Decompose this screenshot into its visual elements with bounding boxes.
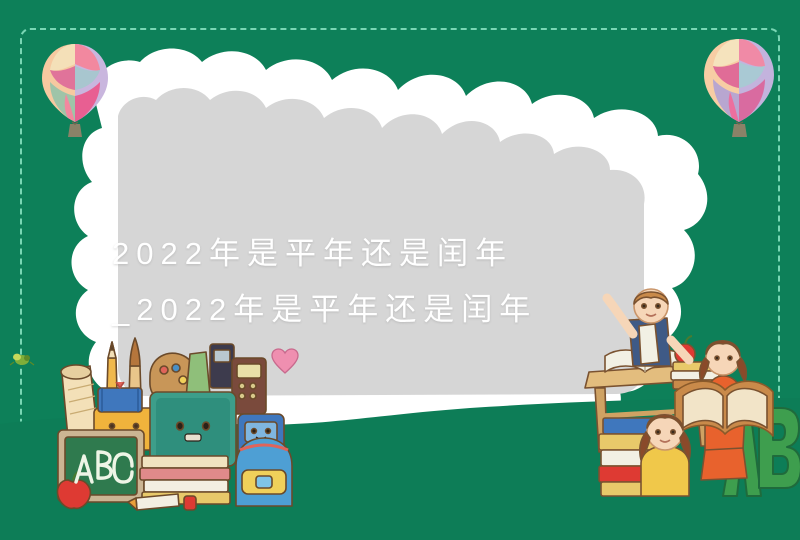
bug-icon <box>8 348 36 370</box>
girl-with-books-figure <box>640 414 690 496</box>
green-book-icon <box>150 392 236 466</box>
calculator-icon <box>210 344 234 388</box>
school-supplies-illustration <box>50 330 340 515</box>
students-illustration <box>555 300 800 500</box>
small-red-object-icon <box>184 496 196 510</box>
hot-air-balloon-right-icon <box>700 36 778 146</box>
balloon-envelope <box>42 44 108 122</box>
calculator-icon-2 <box>232 358 266 414</box>
balloon-basket <box>732 122 747 137</box>
backpack-icon <box>236 438 292 506</box>
poster-canvas: 2022年是平年还是闰年 _2022年是平年还是闰年 <box>0 0 800 540</box>
hot-air-balloon-left-icon <box>38 42 112 146</box>
balloon-envelope <box>704 39 774 122</box>
balloon-basket <box>68 122 82 137</box>
